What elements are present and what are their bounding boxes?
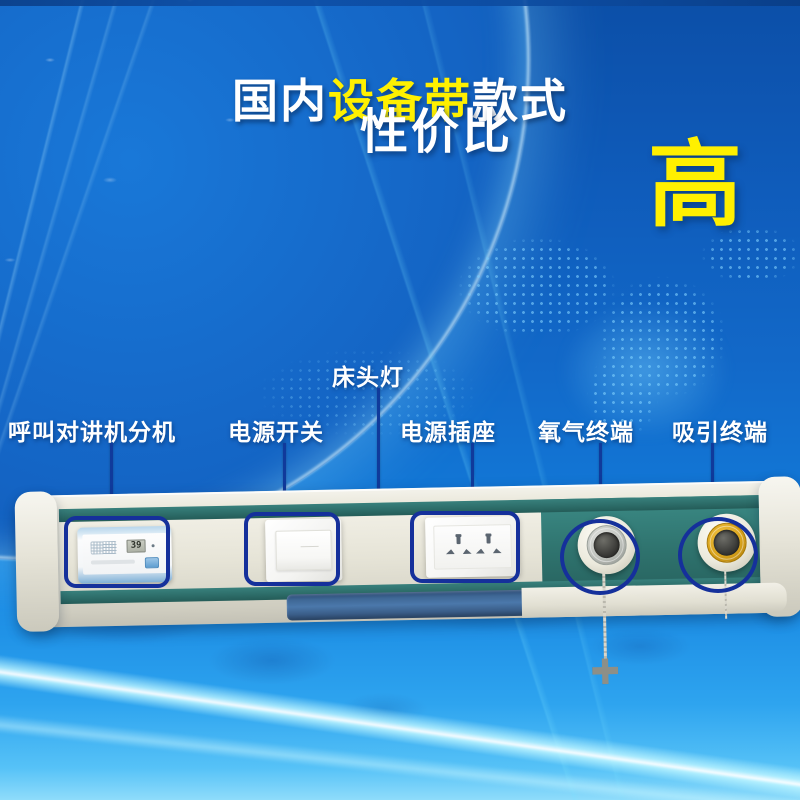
socket-outlet-right[interactable] xyxy=(474,534,503,561)
callout-label-oxygen-terminal: 氧气终端 xyxy=(538,413,634,447)
intercom-slot xyxy=(91,560,135,565)
switch-rocker[interactable] xyxy=(275,530,332,571)
nurse-call-intercom-device[interactable]: 39 xyxy=(77,526,172,584)
callout-label-nurse-call-intercom: 呼叫对讲机分机 xyxy=(8,413,176,447)
callout-label-suction-terminal: 吸引终端 xyxy=(672,413,768,447)
headline-text-part1: 国内 xyxy=(232,74,328,128)
unit-end-cap-left xyxy=(14,491,59,632)
socket-live-pin-icon xyxy=(446,549,455,554)
unit-rail-cover xyxy=(522,583,788,618)
intercom-faceplate: 39 xyxy=(82,533,167,575)
socket-earth-pin-icon xyxy=(456,535,460,544)
dotted-world-map-secondary xyxy=(170,330,500,470)
intercom-call-button[interactable] xyxy=(145,557,159,568)
socket-earth-pin-icon xyxy=(486,534,490,543)
socket-outlet-left[interactable] xyxy=(444,535,473,562)
switch-rocker-line xyxy=(301,546,319,547)
socket-live-pin-icon xyxy=(476,549,485,554)
banner-stage: 国内设备带款式 性价比 高 呼叫对讲机分机 电源开关 床头灯 电源插座 氧气终端… xyxy=(0,0,800,800)
bed-head-unit: 39 xyxy=(14,472,800,648)
top-edge-band xyxy=(0,0,800,6)
callout-label-power-switch: 电源开关 xyxy=(228,413,324,447)
socket-neutral-pin-icon xyxy=(493,548,502,553)
callout-label-power-socket: 电源插座 xyxy=(400,413,496,447)
power-switch-device[interactable] xyxy=(265,518,342,582)
headline-line-2: 性价比 xyxy=(360,92,513,162)
socket-faceplate xyxy=(433,524,512,570)
socket-neutral-pin-icon xyxy=(463,549,472,554)
lower-light-beam-secondary xyxy=(0,690,800,800)
callout-label-bed-lamp: 床头灯 xyxy=(332,358,404,392)
headline-emphasis-gao: 高 xyxy=(648,138,742,232)
intercom-display: 39 xyxy=(126,539,145,552)
speaker-grille-icon xyxy=(90,541,116,555)
indicator-led-icon xyxy=(152,544,155,547)
power-socket-device[interactable] xyxy=(425,516,520,578)
